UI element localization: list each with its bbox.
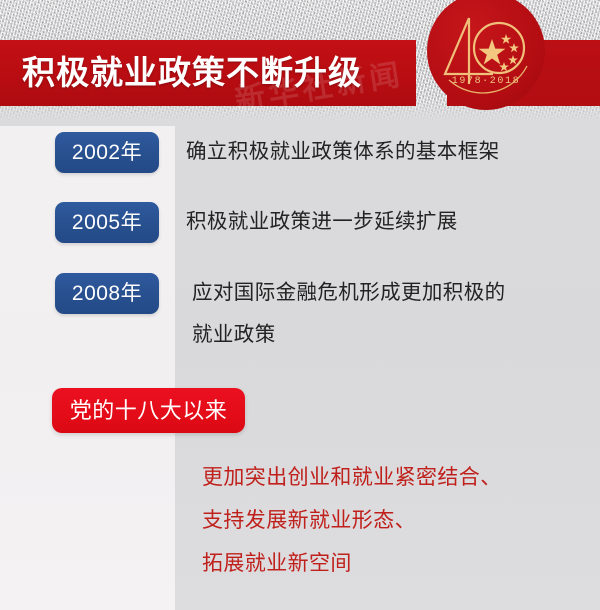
timeline-desc-line: 确立积极就业政策体系的基本框架 (186, 140, 500, 163)
emblem-year-range: 1978·2018 (427, 76, 545, 87)
year-chip-2002: 2002年 (55, 132, 159, 173)
era-statement-line: 拓展就业新空间 (202, 542, 592, 585)
timeline-desc-2008: 应对国际金融危机形成更加积极的 就业政策 (192, 272, 592, 356)
anniversary-emblem: 1978·2018 (427, 0, 545, 110)
infographic-poster: 1978·2018 新华社新闻 积极就业政策不断升级 2002年 确立积极就业政… (0, 0, 600, 610)
timeline-desc-2002: 确立积极就业政策体系的基本框架 (186, 131, 586, 173)
year-chip-2008: 2008年 (55, 273, 159, 314)
emblem-graphic (427, 0, 545, 110)
year-chip-2005: 2005年 (55, 202, 159, 243)
page-title: 积极就业政策不断升级 (22, 47, 412, 99)
era-statement-line: 更加突出创业和就业紧密结合、 (202, 456, 592, 499)
era-badge: 党的十八大以来 (52, 388, 245, 433)
timeline-desc-line: 应对国际金融危机形成更加积极的 (192, 281, 506, 304)
timeline-desc-line: 就业政策 (192, 314, 592, 356)
era-statements: 更加突出创业和就业紧密结合、 支持发展新就业形态、 拓展就业新空间 (202, 456, 592, 585)
era-statement-line: 支持发展新就业形态、 (202, 499, 592, 542)
timeline-desc-2005: 积极就业政策进一步延续扩展 (186, 201, 586, 243)
timeline-desc-line: 积极就业政策进一步延续扩展 (186, 210, 458, 233)
